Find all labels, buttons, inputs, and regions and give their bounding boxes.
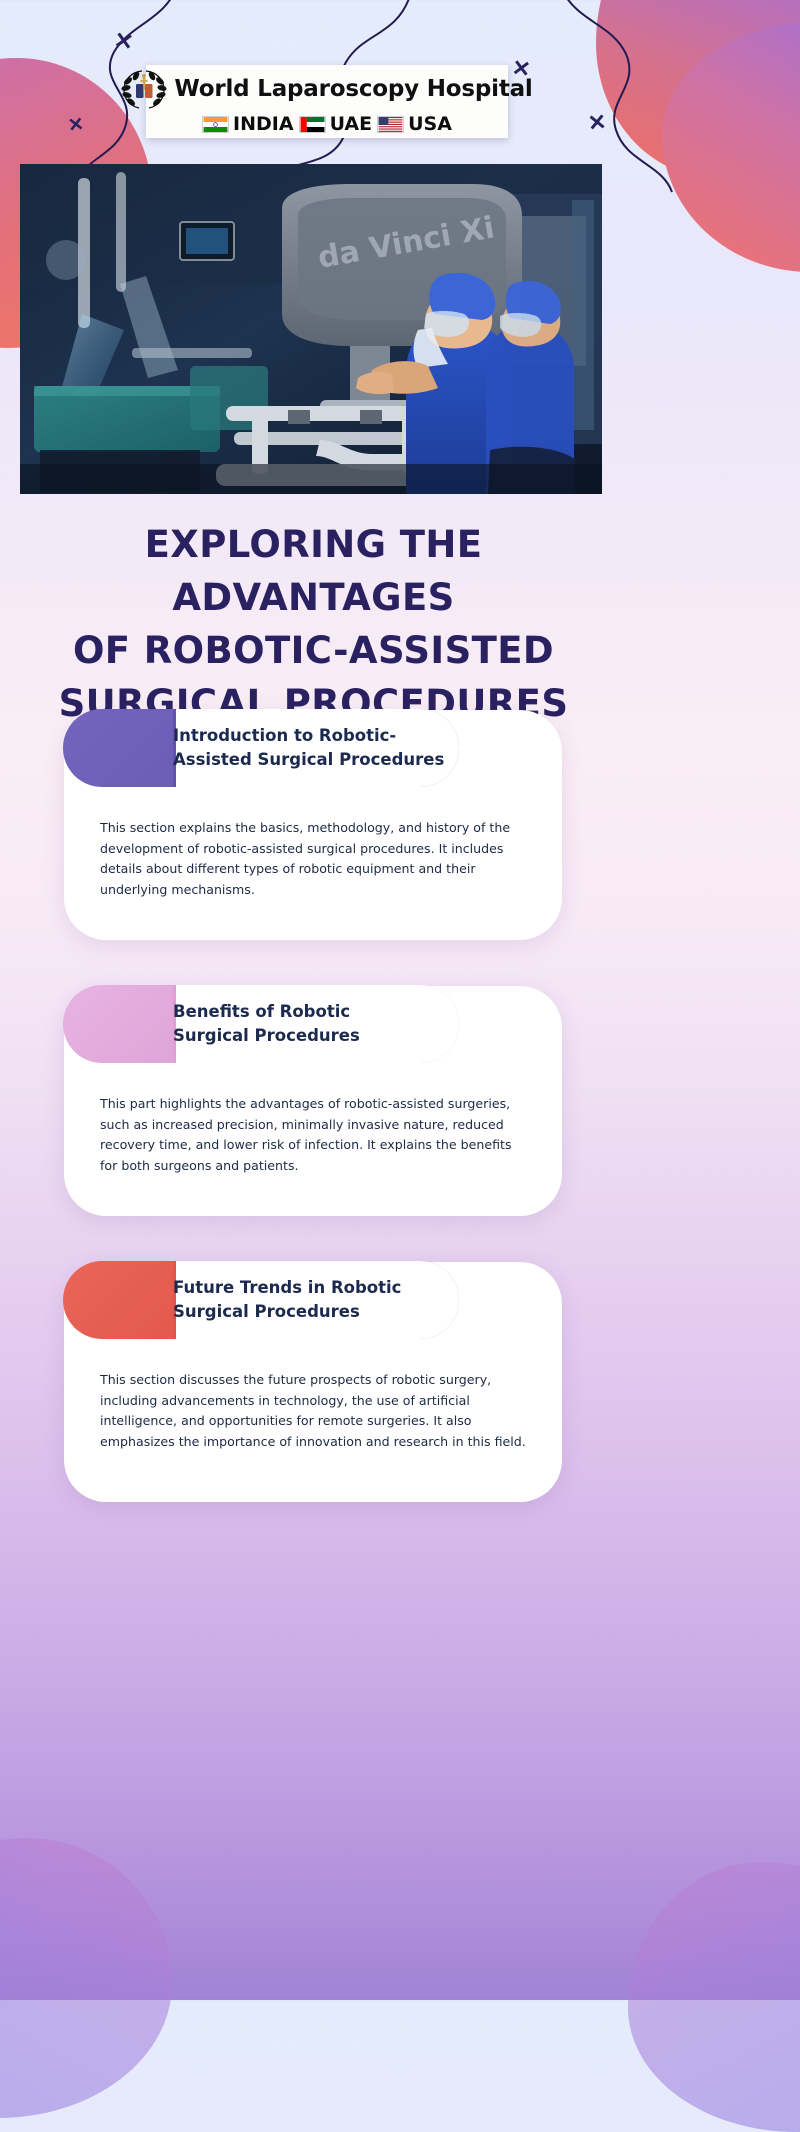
section-body-text: This part highlights the advantages of r… [64, 1094, 562, 1176]
section-heading-line-1: Future Trends in Robotic [173, 1278, 401, 1297]
section-heading-line-1: Introduction to Robotic- [173, 726, 396, 745]
section-header-pill: Benefits of Robotic Surgical Procedures [63, 985, 459, 1063]
page-title-line-2: OF ROBOTIC-ASSISTED [73, 629, 554, 672]
country-uae: UAE [299, 113, 373, 135]
section-card-benefits: Benefits of Robotic Surgical Procedures … [64, 986, 562, 1216]
page-title-line-1: EXPLORING THE ADVANTAGES [145, 523, 483, 619]
page-title: EXPLORING THE ADVANTAGES OF ROBOTIC-ASSI… [0, 518, 627, 730]
blob-top-right-2 [662, 22, 800, 272]
section-header-pill: Future Trends in Robotic Surgical Proced… [63, 1261, 459, 1339]
section-body-text: This section discusses the future prospe… [64, 1370, 562, 1452]
section-heading-line-2: Surgical Procedures [173, 1302, 360, 1321]
country-code-usa: USA [408, 113, 452, 135]
country-usa: USA [377, 113, 452, 135]
section-heading: Introduction to Robotic- Assisted Surgic… [173, 724, 444, 772]
x-mark-icon: ✕ [112, 29, 135, 55]
blob-bottom-right [628, 1862, 800, 2132]
section-header-pill: Introduction to Robotic- Assisted Surgic… [63, 709, 459, 787]
section-heading-line-1: Benefits of Robotic [173, 1002, 350, 1021]
logo-country-flags: INDIA UAE USA [202, 113, 452, 135]
section-heading: Future Trends in Robotic Surgical Proced… [173, 1276, 401, 1324]
uae-flag-icon [299, 116, 326, 133]
country-code-india: INDIA [233, 113, 294, 135]
logo-top-row: World Laparoscopy Hospital [121, 68, 532, 110]
usa-flag-icon [377, 116, 404, 133]
laurel-wreath-emblem-icon [121, 68, 167, 110]
blob-bottom-left [0, 1838, 172, 2118]
section-card-introduction: Introduction to Robotic- Assisted Surgic… [64, 710, 562, 940]
hospital-logo-bar: World Laparoscopy Hospital INDIA UAE [146, 65, 508, 138]
section-body-text: This section explains the basics, method… [64, 818, 562, 900]
x-mark-icon: ✕ [67, 115, 85, 136]
section-heading: Benefits of Robotic Surgical Procedures [173, 1000, 360, 1048]
hero-image-robotic-surgery: da Vinci Xi [20, 164, 602, 494]
country-india: INDIA [202, 113, 294, 135]
blob-top-right-1 [596, 0, 800, 178]
logo-hospital-name: World Laparoscopy Hospital [174, 76, 532, 102]
hero-illustration: da Vinci Xi [20, 164, 602, 494]
country-code-uae: UAE [330, 113, 373, 135]
section-card-future-trends: Future Trends in Robotic Surgical Proced… [64, 1262, 562, 1502]
section-heading-line-2: Assisted Surgical Procedures [173, 750, 444, 769]
x-mark-icon: ✕ [587, 111, 608, 135]
section-heading-line-2: Surgical Procedures [173, 1026, 360, 1045]
india-flag-icon [202, 116, 229, 133]
